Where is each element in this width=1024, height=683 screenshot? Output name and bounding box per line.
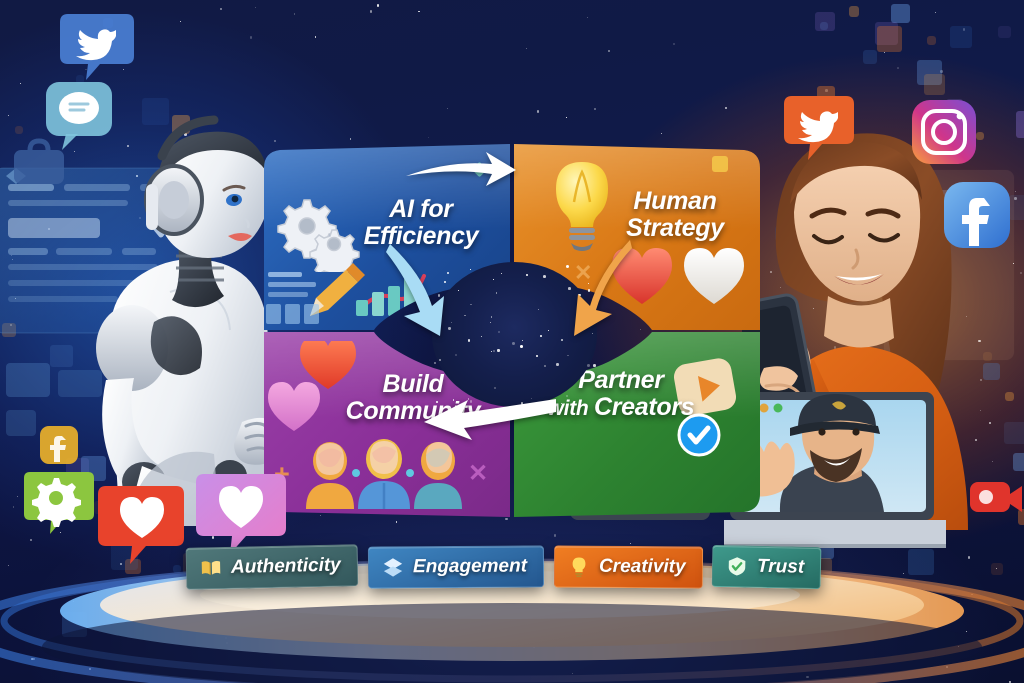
arrow-creators-to-community <box>420 396 560 448</box>
facebook-icon <box>938 176 1016 254</box>
badge-label: Authenticity <box>231 555 341 579</box>
framework-cycle-diagram: AI for Efficiency <box>262 142 762 520</box>
people-group-icon <box>296 439 476 511</box>
quadrant-line1: AI for <box>364 196 479 223</box>
arrow-efficiency-to-community <box>384 238 470 348</box>
twitter-icon <box>58 8 138 86</box>
video-icon <box>966 474 1024 526</box>
x-accent: ✕ <box>468 459 488 488</box>
quadrant-line2: with Creators <box>548 394 695 421</box>
quadrant-line1: Human <box>626 188 724 215</box>
badge-label: Trust <box>757 556 805 579</box>
arrow-efficiency-to-strategy <box>402 148 522 194</box>
heart-red-icon <box>96 482 192 574</box>
badge-creativity[interactable]: Creativity <box>554 545 703 588</box>
gear-icon <box>22 468 100 542</box>
infographic-canvas: AI for Efficiency <box>0 0 1024 683</box>
twitter-icon <box>782 92 858 164</box>
facebook-icon <box>36 422 82 468</box>
shield-icon <box>726 555 748 577</box>
briefcase-icon <box>8 132 70 194</box>
verified-check-icon <box>676 412 722 458</box>
lightbulb-icon <box>568 556 590 578</box>
document-icon <box>264 270 326 328</box>
quadrant-line2: Strategy <box>626 215 724 242</box>
value-badges-row: Authenticity Engagement Creativity Trust <box>186 546 866 598</box>
badge-trust[interactable]: Trust <box>712 545 822 589</box>
badge-engagement[interactable]: Engagement <box>368 545 544 588</box>
arrow-strategy-to-creators <box>554 234 640 350</box>
badge-label: Creativity <box>599 556 686 579</box>
layers-icon <box>382 556 404 578</box>
square-accent <box>712 156 728 172</box>
badge-label: Engagement <box>413 556 527 579</box>
quadrant-label-human-strategy: Human Strategy <box>626 188 724 242</box>
badge-authenticity[interactable]: Authenticity <box>186 544 359 590</box>
book-icon <box>200 557 222 579</box>
instagram-icon <box>906 94 982 170</box>
